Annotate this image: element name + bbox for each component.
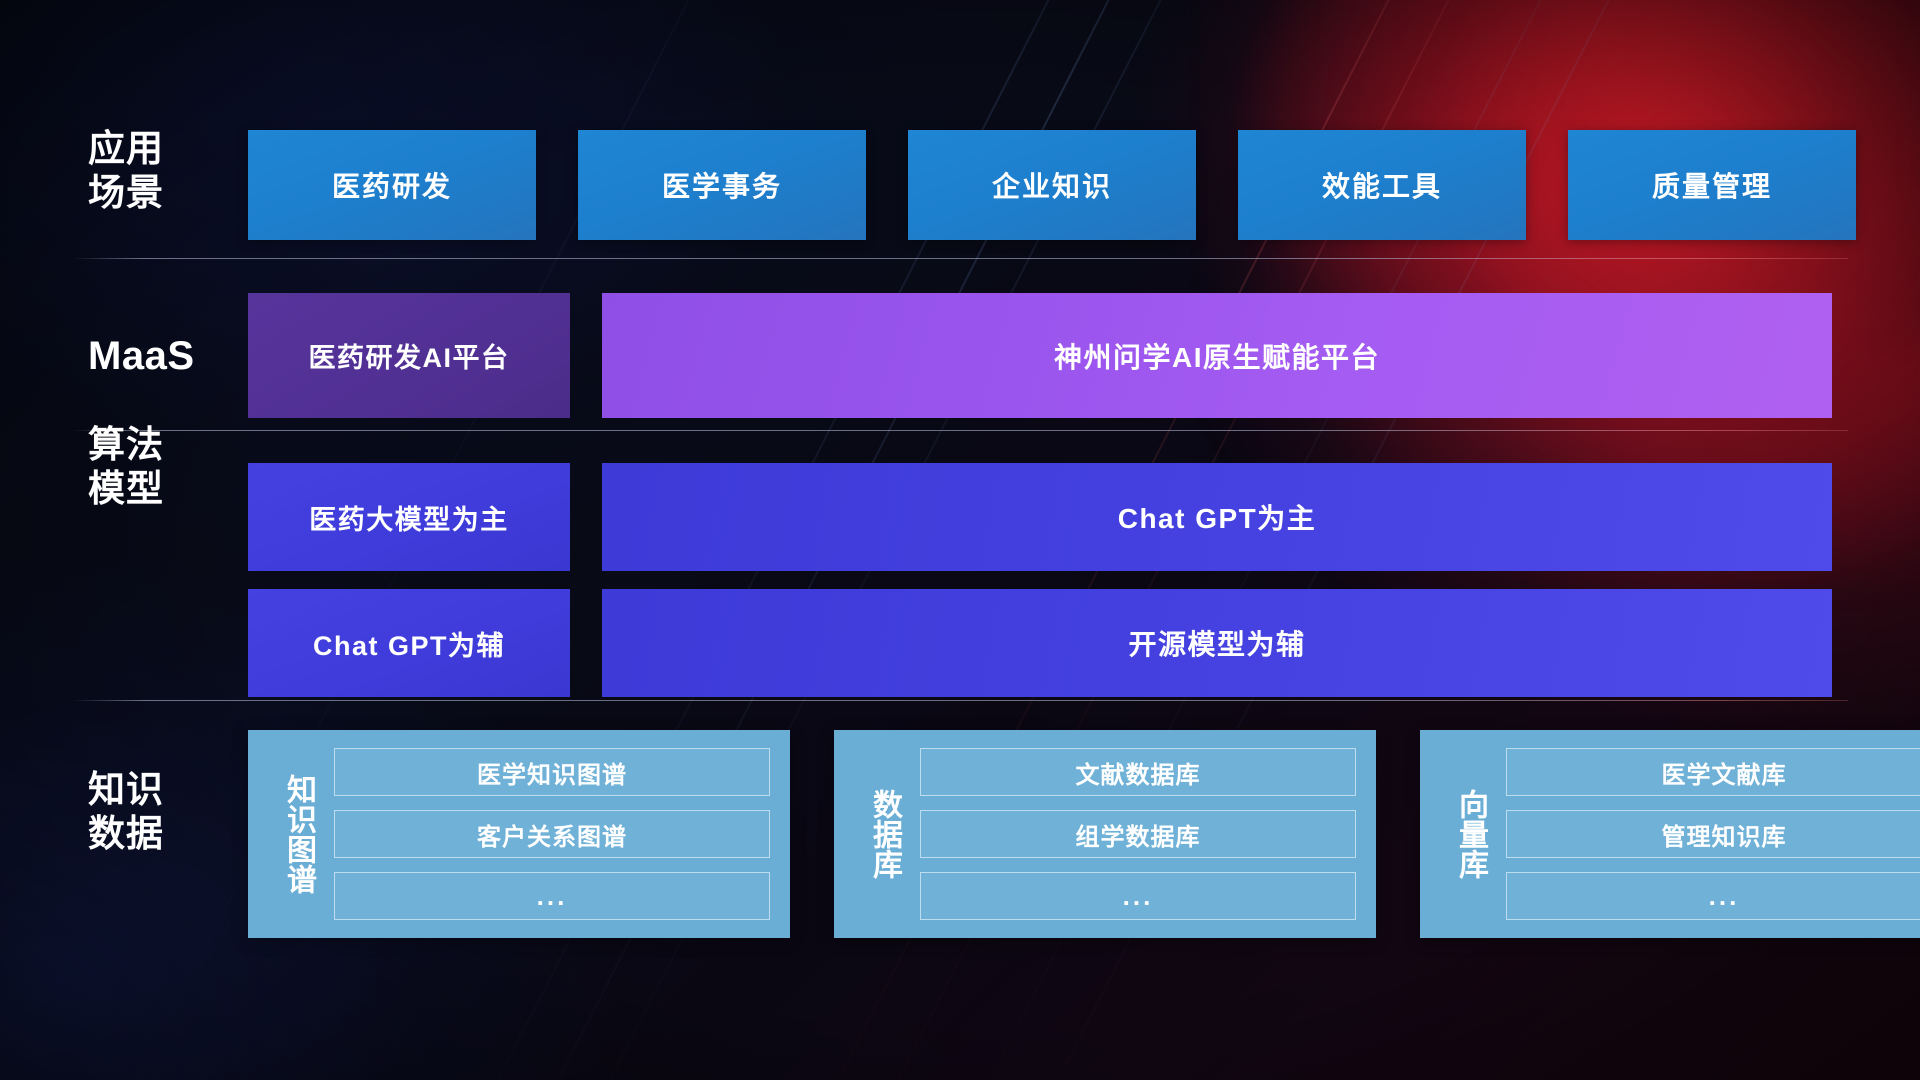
row-label-algorithm-model-line1: 算法 [88,423,218,467]
algo-box-chatgpt-secondary[interactable]: Chat GPT为辅 [248,589,570,697]
row-label-algorithm-model-line2: 模型 [88,467,218,511]
knowledge-panel-database-label: 数据库 [856,789,902,879]
algorithm-model-primary-row: 医药大模型为主 Chat GPT为主 [248,463,1832,571]
maas-box-drug-rd-ai-platform[interactable]: 医药研发AI平台 [248,293,570,418]
algo-box-chatgpt-primary[interactable]: Chat GPT为主 [602,463,1832,571]
algo-box-pharma-llm-primary[interactable]: 医药大模型为主 [248,463,570,571]
knowledge-item-omics-database[interactable]: 组学数据库 [920,810,1356,858]
divider-after-maas [72,430,1848,431]
knowledge-panel-vector-store-items: 医学文献库 管理知识库 ... [1506,748,1920,920]
algo-box-opensource-secondary[interactable]: 开源模型为辅 [602,589,1832,697]
knowledge-panel-knowledge-graph: 知识图谱 医学知识图谱 客户关系图谱 ... [248,730,790,938]
row-label-application-scenario: 应用 场景 [88,127,218,214]
row-label-algorithm-model: 算法 模型 [88,423,218,510]
scene-box-enterprise-knowledge[interactable]: 企业知识 [908,130,1196,240]
diagram-canvas: 应用 场景 医药研发 医学事务 企业知识 效能工具 质量管理 MaaS 医药研发… [0,0,1920,1080]
row-label-knowledge-data-line1: 知识 [88,768,218,812]
row-label-maas-text: MaaS [88,333,218,380]
knowledge-panel-database: 数据库 文献数据库 组学数据库 ... [834,730,1376,938]
scene-box-efficiency-tools[interactable]: 效能工具 [1238,130,1526,240]
knowledge-item-more-graph[interactable]: ... [334,872,770,920]
maas-boxes: 医药研发AI平台 神州问学AI原生赋能平台 [248,293,1832,418]
knowledge-data-panels: 知识图谱 医学知识图谱 客户关系图谱 ... 数据库 文献数据库 组学数据库 .… [248,730,1920,938]
application-scenario-boxes: 医药研发 医学事务 企业知识 效能工具 质量管理 [248,130,1856,240]
knowledge-panel-knowledge-graph-items: 医学知识图谱 客户关系图谱 ... [334,748,770,920]
row-label-knowledge-data: 知识 数据 [88,768,218,855]
algorithm-model-secondary-row: Chat GPT为辅 开源模型为辅 [248,589,1832,697]
maas-box-shenzhou-wenxue-platform[interactable]: 神州问学AI原生赋能平台 [602,293,1832,418]
knowledge-item-more-vector[interactable]: ... [1506,872,1920,920]
knowledge-item-medical-literature-store[interactable]: 医学文献库 [1506,748,1920,796]
divider-after-algorithm-model [72,700,1848,701]
knowledge-item-medical-knowledge-graph[interactable]: 医学知识图谱 [334,748,770,796]
knowledge-item-customer-relation-graph[interactable]: 客户关系图谱 [334,810,770,858]
knowledge-item-literature-database[interactable]: 文献数据库 [920,748,1356,796]
knowledge-panel-database-items: 文献数据库 组学数据库 ... [920,748,1356,920]
knowledge-panel-vector-store: 向量库 医学文献库 管理知识库 ... [1420,730,1920,938]
scene-box-quality-management[interactable]: 质量管理 [1568,130,1856,240]
row-label-application-scenario-line1: 应用 [88,127,218,171]
row-label-application-scenario-line2: 场景 [88,171,218,215]
scene-box-medical-affairs[interactable]: 医学事务 [578,130,866,240]
divider-after-application-scenario [72,258,1848,259]
row-label-maas: MaaS [88,333,218,380]
scene-box-drug-rd[interactable]: 医药研发 [248,130,536,240]
knowledge-item-more-database[interactable]: ... [920,872,1356,920]
algorithm-model-boxes: 医药大模型为主 Chat GPT为主 Chat GPT为辅 开源模型为辅 [248,463,1832,697]
row-label-knowledge-data-line2: 数据 [88,812,218,856]
knowledge-panel-vector-store-label: 向量库 [1442,789,1488,879]
knowledge-item-management-knowledge-store[interactable]: 管理知识库 [1506,810,1920,858]
knowledge-panel-knowledge-graph-label: 知识图谱 [270,774,316,894]
